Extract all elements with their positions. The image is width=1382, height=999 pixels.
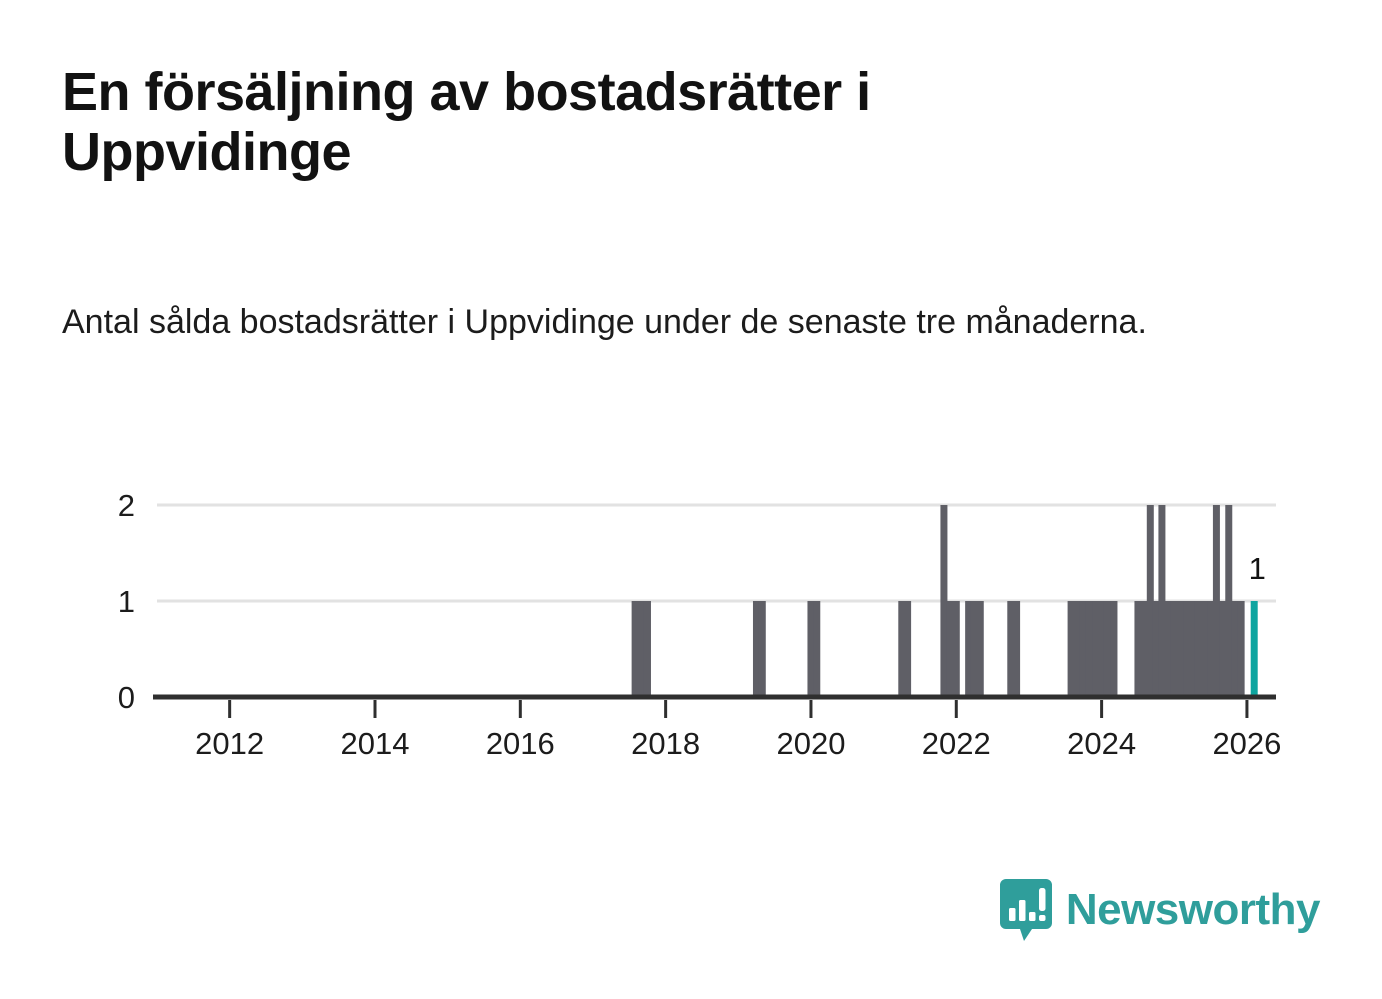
x-axis-ticks: 20122014201620182020202220242026 (195, 700, 1281, 761)
x-axis-tick-label: 2018 (631, 726, 700, 761)
x-axis-tick-label: 2020 (776, 726, 845, 761)
x-axis-tick-label: 2014 (341, 726, 410, 761)
bar-chart-speech-bubble-icon (1000, 879, 1052, 941)
y-axis-ticks: 012 (118, 488, 135, 715)
chart-bars (632, 505, 1258, 697)
chart-description: Antal sålda bostadsrätter i Uppvidinge u… (62, 300, 1292, 345)
x-axis-tick-label: 2024 (1067, 726, 1136, 761)
y-axis-tick-label: 0 (118, 680, 135, 715)
infographic-page: En försäljning av bostadsrätter i Uppvid… (0, 0, 1382, 999)
y-axis-tick-label: 1 (118, 584, 135, 619)
highlight-value-label: 1 (1249, 551, 1266, 586)
newsworthy-logo[interactable]: Newsworthy (1000, 879, 1320, 941)
chart-gridlines (157, 505, 1276, 601)
x-axis-tick-label: 2026 (1212, 726, 1281, 761)
y-axis-tick-label: 2 (118, 488, 135, 523)
logo-wordmark: Newsworthy (1066, 888, 1320, 932)
x-axis-tick-label: 2012 (195, 726, 264, 761)
x-axis-tick-label: 2016 (486, 726, 555, 761)
chart-value-labels: 1 (1249, 551, 1266, 586)
x-axis-tick-label: 2022 (922, 726, 991, 761)
page-title: En försäljning av bostadsrätter i Uppvid… (62, 62, 1122, 183)
